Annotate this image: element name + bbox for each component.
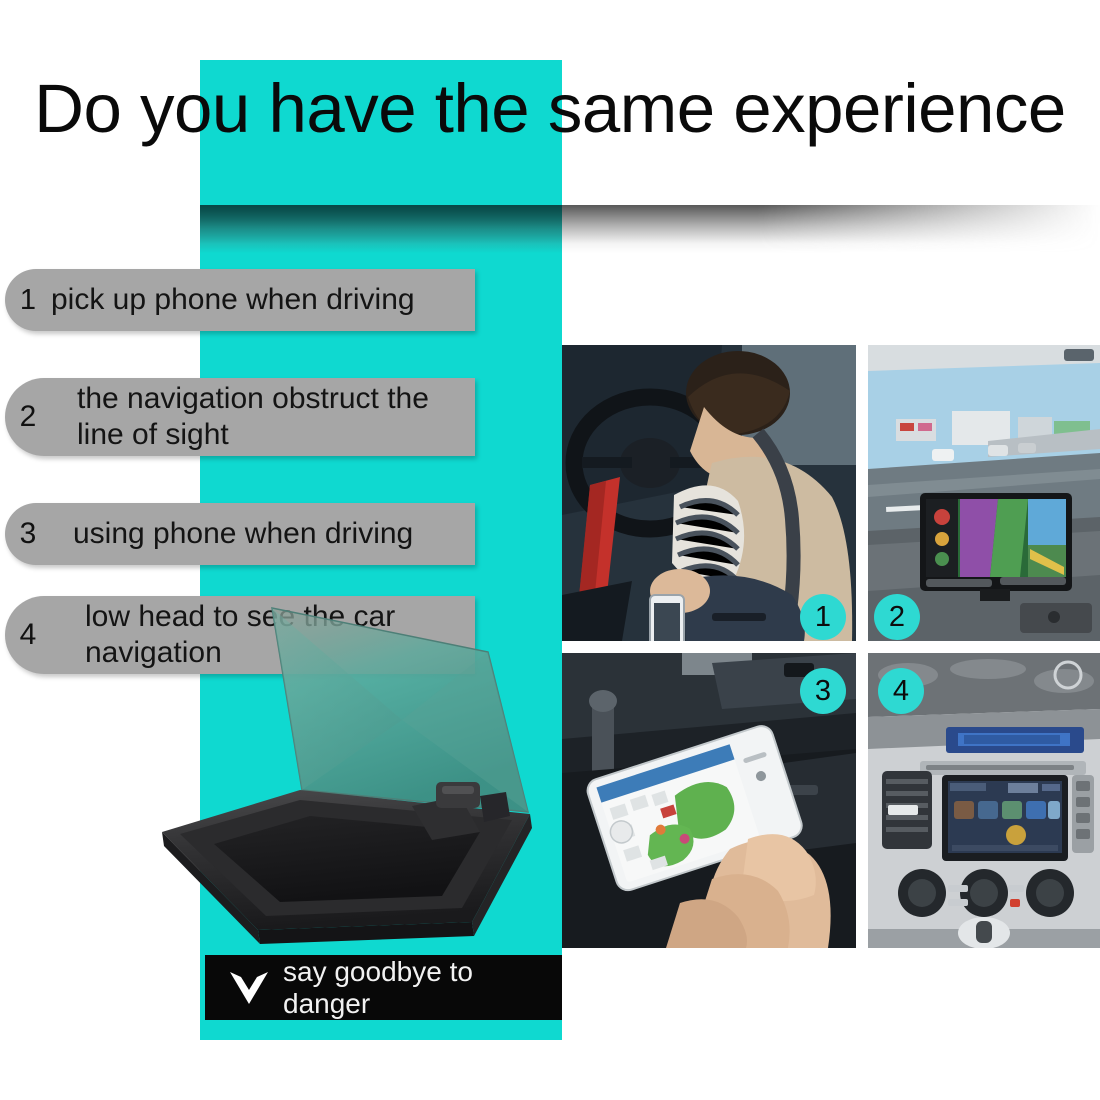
problem-text-1: pick up phone when driving [51,282,415,318]
problem-text-3: using phone when driving [51,516,413,552]
tagline-text: say goodbye to danger [283,956,562,1020]
problem-number-1: 1 [5,284,51,317]
photo-badge-3: 3 [800,668,846,714]
problem-text-2: the navigation obstruct the line of sigh… [51,381,437,453]
header-shadow-strip-teal [200,205,562,253]
photo-badge-1: 1 [800,594,846,640]
photo-badge-4: 4 [878,668,924,714]
banner-teal-underline [205,1020,562,1040]
hud-product-illustration [150,600,570,960]
tagline-banner: say goodbye to danger [205,955,562,1020]
chevron-down-icon [227,968,271,1008]
hud-product-image [150,600,570,960]
problem-item-1: 1 pick up phone when driving [5,269,475,331]
page-title: Do you have the same experience [0,74,1100,143]
photo-badge-2: 2 [874,594,920,640]
problem-item-3: 3 using phone when driving [5,503,475,565]
problem-number-2: 2 [5,400,51,434]
problem-number-3: 3 [5,517,51,551]
problem-number-4: 4 [5,618,51,652]
promo-image-root: Do you have the same experience 1 pick u… [0,0,1100,1100]
problem-item-2: 2 the navigation obstruct the line of si… [5,378,475,456]
